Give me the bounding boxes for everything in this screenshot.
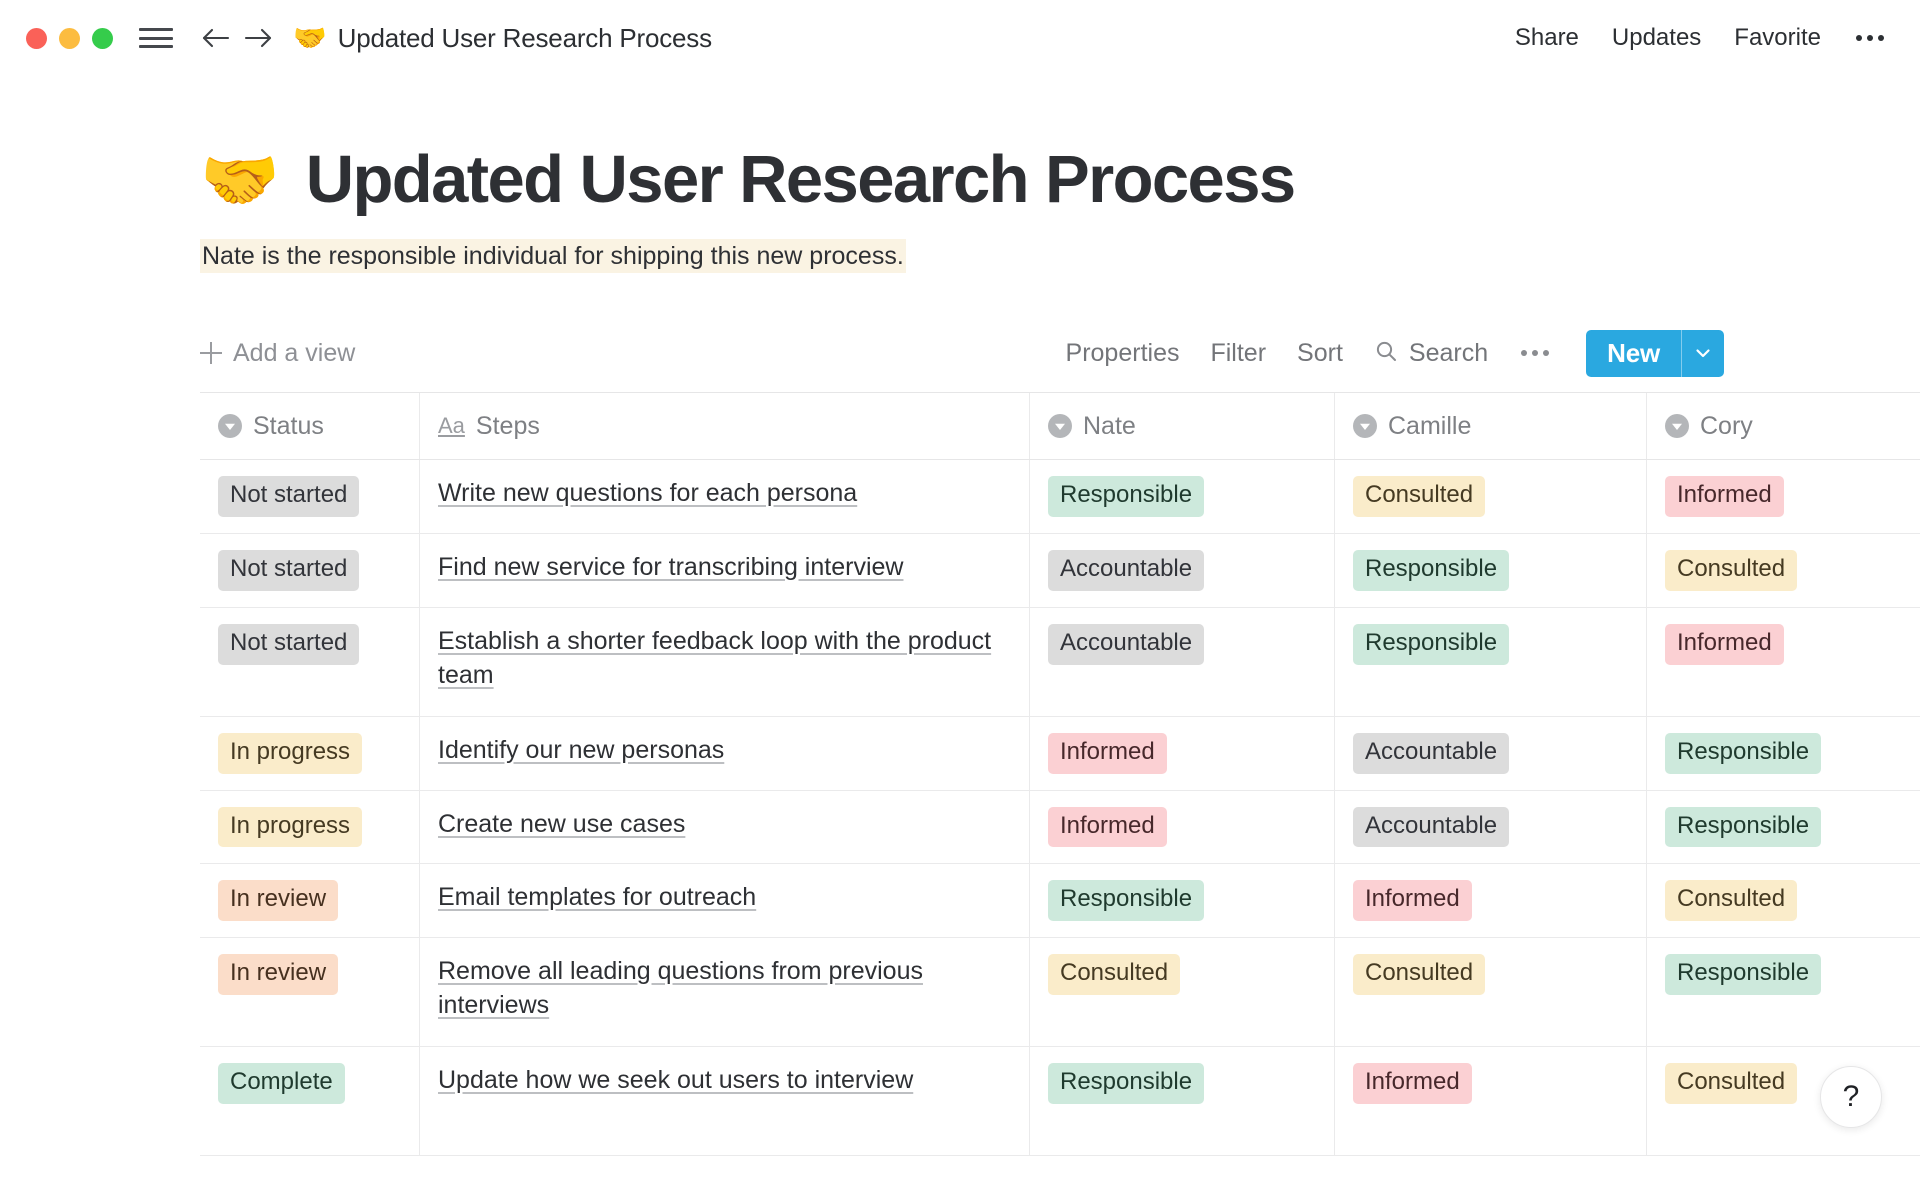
cell-steps[interactable]: Establish a shorter feedback loop with t…	[420, 608, 1030, 716]
page-title: Updated User Research Process	[306, 145, 1295, 215]
status-tag: In review	[218, 880, 338, 921]
cell-cory[interactable]: Informed	[1647, 608, 1920, 716]
plus-icon	[200, 342, 222, 364]
window-controls	[26, 28, 113, 49]
step-link[interactable]: Establish a shorter feedback loop with t…	[438, 624, 1011, 693]
cory-tag: Responsible	[1665, 954, 1821, 995]
view-toolbar-actions: Properties Filter Sort Search New	[1066, 330, 1724, 377]
cell-nate[interactable]: Informed	[1030, 791, 1335, 864]
status-tag: Not started	[218, 550, 359, 591]
cell-camille[interactable]: Responsible	[1335, 608, 1647, 716]
step-link[interactable]: Email templates for outreach	[438, 880, 756, 915]
camille-tag: Responsible	[1353, 550, 1509, 591]
cell-cory[interactable]: Informed	[1647, 460, 1920, 533]
table-body: Not startedWrite new questions for each …	[200, 460, 1920, 1156]
table-row: Not startedEstablish a shorter feedback …	[200, 608, 1920, 717]
table-row: In reviewRemove all leading questions fr…	[200, 938, 1920, 1047]
search-button[interactable]: Search	[1374, 339, 1488, 368]
table-row: Not startedFind new service for transcri…	[200, 534, 1920, 608]
cell-camille[interactable]: Informed	[1335, 1047, 1647, 1155]
nate-tag: Informed	[1048, 807, 1167, 848]
select-property-icon	[1048, 414, 1072, 438]
cell-cory[interactable]: Responsible	[1647, 791, 1920, 864]
cell-cory[interactable]: Consulted	[1647, 864, 1920, 937]
new-button[interactable]: New	[1586, 330, 1681, 377]
cell-steps[interactable]: Email templates for outreach	[420, 864, 1030, 937]
cell-camille[interactable]: Responsible	[1335, 534, 1647, 607]
page-heading: 🤝 Updated User Research Process	[200, 145, 1920, 215]
minimize-window-button[interactable]	[59, 28, 80, 49]
cell-camille[interactable]: Accountable	[1335, 791, 1647, 864]
status-tag: In progress	[218, 807, 362, 848]
cell-cory[interactable]: Responsible	[1647, 717, 1920, 790]
cory-tag: Consulted	[1665, 1063, 1797, 1104]
cell-nate[interactable]: Responsible	[1030, 864, 1335, 937]
nate-tag: Responsible	[1048, 880, 1204, 921]
search-icon	[1374, 339, 1398, 368]
cell-camille[interactable]: Consulted	[1335, 938, 1647, 1046]
column-header-camille[interactable]: Camille	[1335, 393, 1647, 459]
select-property-icon	[1353, 414, 1377, 438]
table-row: In reviewEmail templates for outreachRes…	[200, 864, 1920, 938]
cell-steps[interactable]: Find new service for transcribing interv…	[420, 534, 1030, 607]
column-header-cory[interactable]: Cory	[1647, 393, 1920, 459]
table-row: In progressIdentify our new personasInfo…	[200, 717, 1920, 791]
cell-status[interactable]: Not started	[200, 460, 420, 533]
cell-steps[interactable]: Write new questions for each persona	[420, 460, 1030, 533]
cell-nate[interactable]: Responsible	[1030, 460, 1335, 533]
camille-tag: Informed	[1353, 880, 1472, 921]
ellipsis-icon[interactable]	[1519, 344, 1551, 362]
step-link[interactable]: Write new questions for each persona	[438, 476, 857, 511]
camille-tag: Accountable	[1353, 733, 1509, 774]
step-link[interactable]: Find new service for transcribing interv…	[438, 550, 903, 585]
camille-tag: Informed	[1353, 1063, 1472, 1104]
cell-nate[interactable]: Accountable	[1030, 534, 1335, 607]
step-link[interactable]: Create new use cases	[438, 807, 685, 842]
step-link[interactable]: Remove all leading questions from previo…	[438, 954, 1011, 1023]
cell-steps[interactable]: Create new use cases	[420, 791, 1030, 864]
cory-tag: Responsible	[1665, 733, 1821, 774]
nate-tag: Consulted	[1048, 954, 1180, 995]
cory-tag: Consulted	[1665, 880, 1797, 921]
select-property-icon	[1665, 414, 1689, 438]
add-view-label: Add a view	[233, 339, 355, 368]
table-row: CompleteUpdate how we seek out users to …	[200, 1047, 1920, 1156]
search-label: Search	[1409, 339, 1488, 368]
properties-button[interactable]: Properties	[1066, 339, 1180, 368]
table-row: Not startedWrite new questions for each …	[200, 460, 1920, 534]
camille-tag: Responsible	[1353, 624, 1509, 665]
column-header-label: Camille	[1388, 412, 1471, 441]
cell-steps[interactable]: Remove all leading questions from previo…	[420, 938, 1030, 1046]
view-toolbar: Add a view Properties Filter Sort Search…	[200, 326, 1920, 380]
window-titlebar: 🤝 Updated User Research Process Share Up…	[0, 0, 1920, 76]
camille-tag: Consulted	[1353, 954, 1485, 995]
cory-tag: Consulted	[1665, 550, 1797, 591]
ellipsis-icon[interactable]	[1854, 29, 1886, 47]
text-property-icon: Aa	[438, 415, 465, 437]
arrow-left-icon[interactable]	[195, 17, 237, 59]
column-header-nate[interactable]: Nate	[1030, 393, 1335, 459]
nate-tag: Accountable	[1048, 624, 1204, 665]
updates-button[interactable]: Updates	[1612, 24, 1701, 52]
nate-tag: Responsible	[1048, 476, 1204, 517]
column-header-label: Steps	[476, 412, 540, 441]
maximize-window-button[interactable]	[92, 28, 113, 49]
titlebar-actions: Share Updates Favorite	[1515, 24, 1886, 52]
status-tag: In review	[218, 954, 338, 995]
cell-cory[interactable]: Responsible	[1647, 938, 1920, 1046]
nate-tag: Informed	[1048, 733, 1167, 774]
status-tag: Complete	[218, 1063, 345, 1104]
cell-nate[interactable]: Responsible	[1030, 1047, 1335, 1155]
nate-tag: Accountable	[1048, 550, 1204, 591]
column-header-status[interactable]: Status	[200, 393, 420, 459]
column-header-label: Nate	[1083, 412, 1136, 441]
status-tag: Not started	[218, 624, 359, 665]
cell-camille[interactable]: Accountable	[1335, 717, 1647, 790]
cell-status[interactable]: In progress	[200, 717, 420, 790]
nate-tag: Responsible	[1048, 1063, 1204, 1104]
cory-tag: Informed	[1665, 624, 1784, 665]
page-subtitle: Nate is the responsible individual for s…	[200, 239, 906, 273]
new-button-group[interactable]: New	[1586, 330, 1724, 377]
cell-status[interactable]: In progress	[200, 791, 420, 864]
sort-button[interactable]: Sort	[1297, 339, 1343, 368]
cell-nate[interactable]: Informed	[1030, 717, 1335, 790]
database-table: Status Aa Steps Nate Camille	[200, 392, 1920, 1156]
cell-cory[interactable]: Consulted	[1647, 534, 1920, 607]
chevron-down-icon[interactable]	[1681, 330, 1724, 377]
titlebar-page-title: Updated User Research Process	[338, 23, 712, 54]
status-tag: Not started	[218, 476, 359, 517]
cell-status[interactable]: Complete	[200, 1047, 420, 1155]
cell-status[interactable]: In review	[200, 938, 420, 1046]
handshake-icon: 🤝	[200, 149, 280, 213]
status-tag: In progress	[218, 733, 362, 774]
cell-nate[interactable]: Accountable	[1030, 608, 1335, 716]
step-link[interactable]: Update how we seek out users to intervie…	[438, 1063, 913, 1098]
page-subtitle-wrapper: Nate is the responsible individual for s…	[200, 236, 1920, 276]
help-button[interactable]: ?	[1820, 1066, 1882, 1128]
column-header-label: Cory	[1700, 412, 1753, 441]
cell-nate[interactable]: Consulted	[1030, 938, 1335, 1046]
cell-camille[interactable]: Informed	[1335, 864, 1647, 937]
favorite-button[interactable]: Favorite	[1734, 24, 1821, 52]
arrow-right-icon[interactable]	[237, 17, 279, 59]
table-header-row: Status Aa Steps Nate Camille	[200, 393, 1920, 460]
add-view-button[interactable]: Add a view	[200, 339, 355, 368]
step-link[interactable]: Identify our new personas	[438, 733, 724, 768]
cell-camille[interactable]: Consulted	[1335, 460, 1647, 533]
cell-status[interactable]: In review	[200, 864, 420, 937]
table-row: In progressCreate new use casesInformedA…	[200, 791, 1920, 865]
cell-status[interactable]: Not started	[200, 608, 420, 716]
close-window-button[interactable]	[26, 28, 47, 49]
share-button[interactable]: Share	[1515, 24, 1579, 52]
cell-steps[interactable]: Identify our new personas	[420, 717, 1030, 790]
camille-tag: Consulted	[1353, 476, 1485, 517]
handshake-icon: 🤝	[293, 25, 327, 52]
camille-tag: Accountable	[1353, 807, 1509, 848]
hamburger-icon[interactable]	[139, 25, 173, 51]
page-content: 🤝 Updated User Research Process Nate is …	[0, 145, 1920, 1156]
cell-steps[interactable]: Update how we seek out users to intervie…	[420, 1047, 1030, 1155]
column-header-steps[interactable]: Aa Steps	[420, 393, 1030, 459]
select-property-icon	[218, 414, 242, 438]
cory-tag: Informed	[1665, 476, 1784, 517]
column-header-label: Status	[253, 412, 324, 441]
cory-tag: Responsible	[1665, 807, 1821, 848]
cell-status[interactable]: Not started	[200, 534, 420, 607]
filter-button[interactable]: Filter	[1210, 339, 1266, 368]
